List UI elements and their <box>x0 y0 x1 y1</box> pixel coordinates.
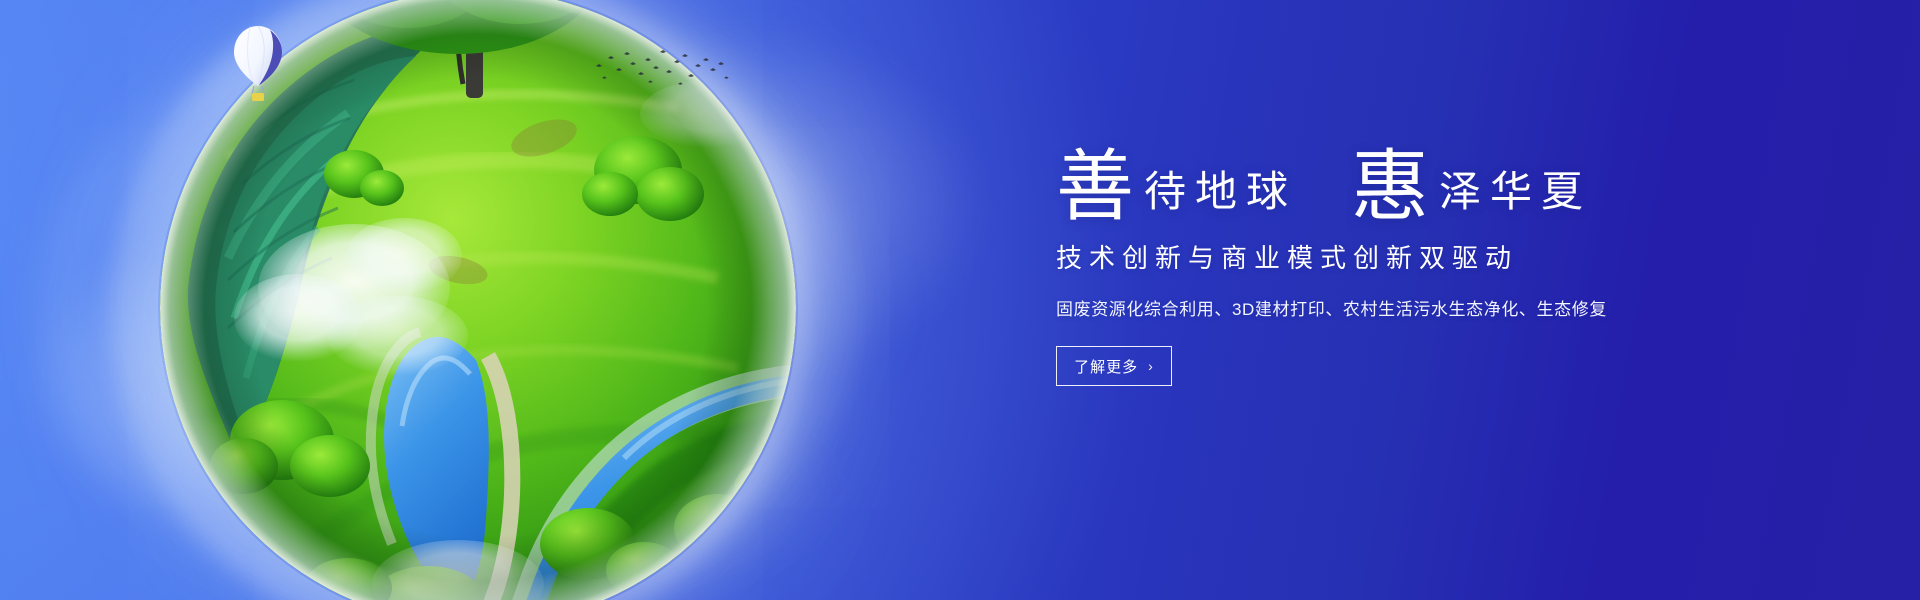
headline-big-char-2: 惠 <box>1351 150 1429 224</box>
description: 固废资源化综合利用、3D建材打印、农村生活污水生态净化、生态修复 <box>1056 295 1856 320</box>
subtitle: 技术创新与商业模式创新双驱动 <box>1056 238 1856 275</box>
headline-small-text-1: 待地球 <box>1134 172 1297 214</box>
hero-copy: 善 待地球 惠 泽华夏 技术创新与商业模式创新双驱动 固废资源化综合利用、3D建… <box>1056 128 1856 386</box>
learn-more-label: 了解更多 <box>1074 356 1138 377</box>
headline: 善 待地球 惠 泽华夏 <box>1056 128 1856 220</box>
chevron-right-icon: › <box>1148 359 1154 373</box>
headline-small-text-2: 泽华夏 <box>1429 172 1592 214</box>
hot-air-balloon-icon <box>230 24 286 104</box>
bird-flock-icon <box>590 44 730 92</box>
hero-banner: 善 待地球 惠 泽华夏 技术创新与商业模式创新双驱动 固废资源化综合利用、3D建… <box>0 0 1920 600</box>
headline-big-char-1: 善 <box>1056 150 1134 224</box>
learn-more-button[interactable]: 了解更多 › <box>1056 346 1172 386</box>
